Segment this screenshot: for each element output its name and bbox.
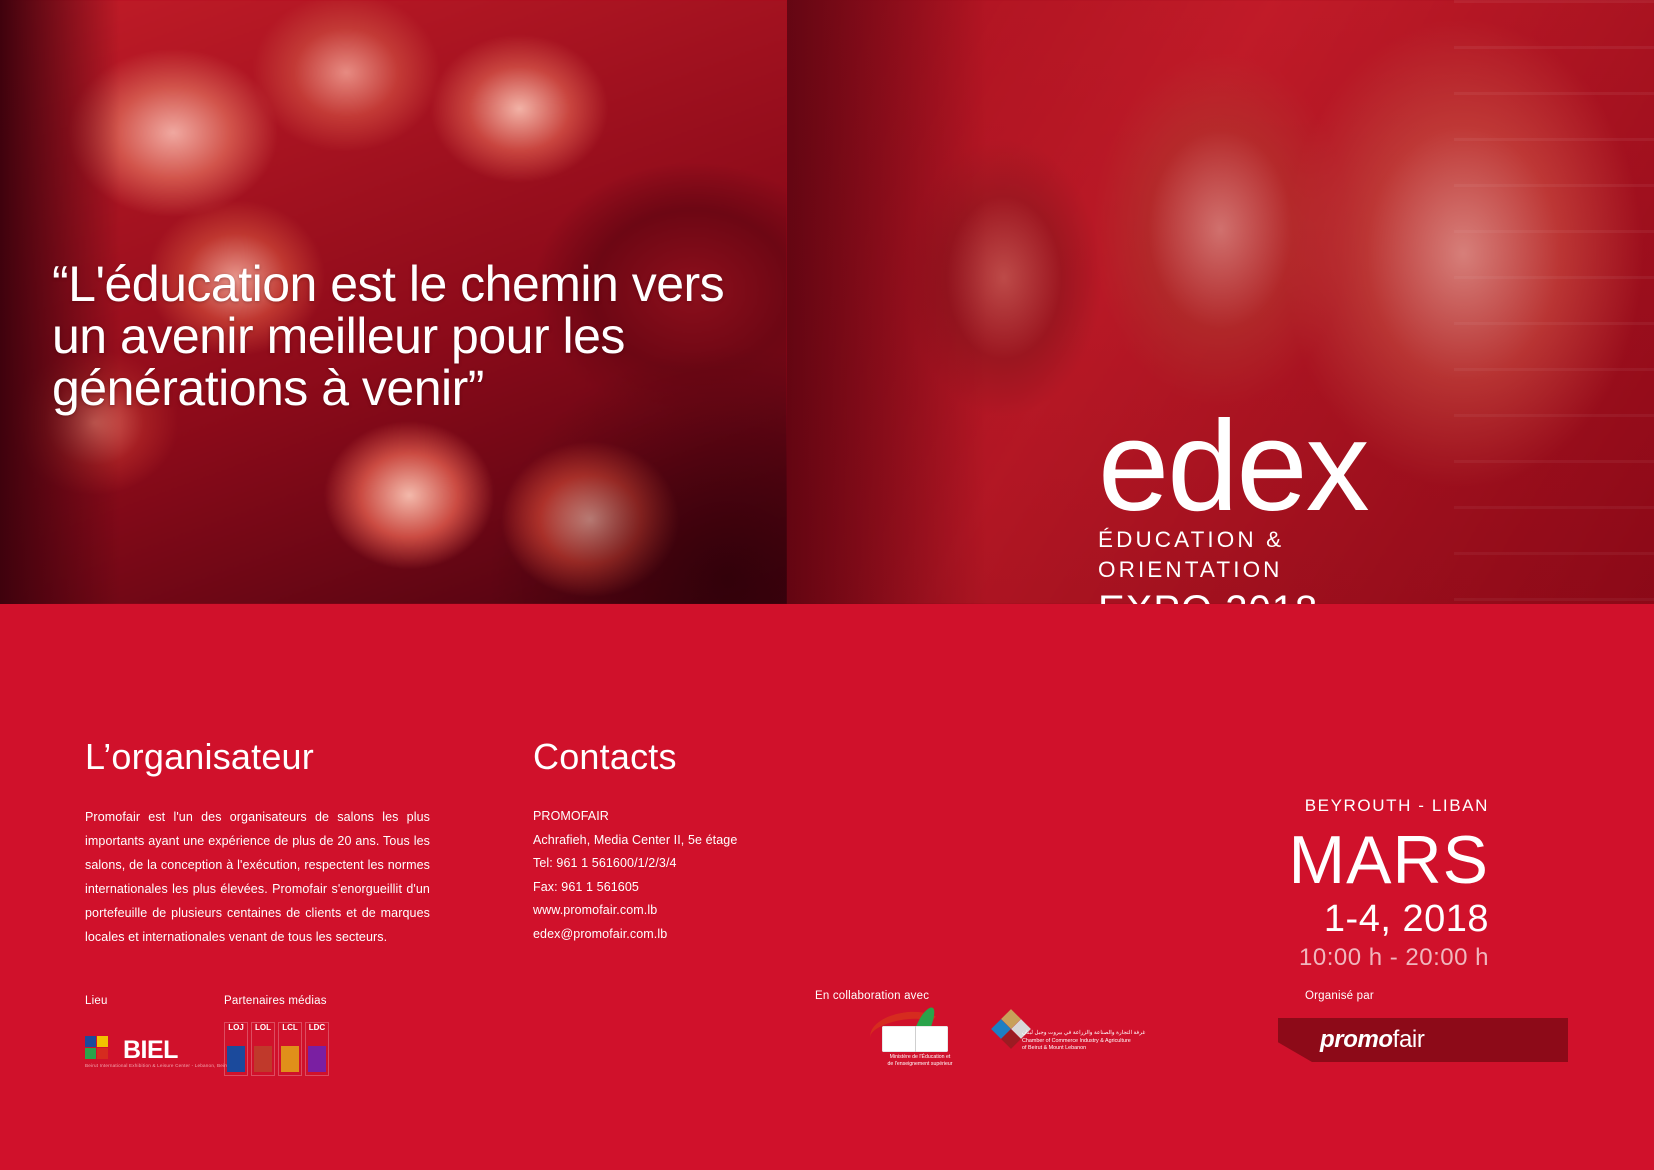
contact-fax: Fax: 961 1 561605	[533, 876, 863, 900]
media-partner-swatch	[227, 1046, 245, 1072]
biel-square-blue	[85, 1036, 96, 1047]
event-hours: 10:00 h - 20:00 h	[1069, 943, 1489, 973]
edex-logo: edex ÉDUCATION & ORIENTATION EXPO 2018	[1098, 415, 1458, 633]
ministry-name: Ministère de l'Éducation et de l'enseign…	[860, 1054, 980, 1068]
contacts-section: Contacts PROMOFAIR Achrafieh, Media Cent…	[533, 735, 863, 946]
ministry-line-2: de l'enseignement supérieur	[887, 1061, 952, 1067]
edex-wordmark: edex	[1098, 415, 1458, 519]
event-date-block: BEYROUTH - LIBAN MARS 1-4, 2018 10:00 h …	[1069, 795, 1489, 973]
organiser-section: L’organisateur Promofair est l'un des or…	[85, 735, 430, 949]
biel-wordmark: BIEL	[123, 1038, 178, 1063]
promofair-prefix: promo	[1320, 1026, 1393, 1053]
ministry-book-icon	[882, 1026, 948, 1052]
contact-company: PROMOFAIR	[533, 805, 863, 829]
media-partner-swatch	[308, 1046, 326, 1072]
media-partner-logos: LOJ LOL LCL LDC	[224, 1022, 329, 1076]
edex-subtitle: ÉDUCATION & ORIENTATION	[1098, 525, 1458, 585]
contact-website[interactable]: www.promofair.com.lb	[533, 899, 863, 923]
biel-tagline: Beirut International Exhibition & Leisur…	[85, 1063, 230, 1068]
chamber-line-2: of Beirut & Mount Lebanon	[1022, 1045, 1086, 1051]
promofair-suffix: fair	[1393, 1026, 1425, 1053]
media-partner-initials: LCL	[279, 1023, 301, 1032]
contact-email[interactable]: edex@promofair.com.lb	[533, 923, 863, 947]
biel-square-yellow	[97, 1036, 108, 1047]
hero-quote: “L'éducation est le chemin vers un aveni…	[52, 258, 772, 414]
media-partner-logo[interactable]: LOL	[251, 1022, 275, 1076]
event-city: BEYROUTH - LIBAN	[1069, 795, 1489, 817]
event-month: MARS	[1069, 823, 1489, 897]
media-partners-label: Partenaires médias	[224, 995, 327, 1007]
media-partner-swatch	[281, 1046, 299, 1072]
organiser-paragraph: Promofair est l'un des organisateurs de …	[85, 805, 430, 949]
ministry-of-education-logo: Ministère de l'Éducation et de l'enseign…	[860, 1010, 980, 1072]
ministry-line-1: Ministère de l'Éducation et	[890, 1054, 951, 1060]
media-partner-logo[interactable]: LDC	[305, 1022, 329, 1076]
media-partner-logo[interactable]: LCL	[278, 1022, 302, 1076]
event-dates: 1-4, 2018	[1069, 897, 1489, 941]
media-partner-swatch	[254, 1046, 272, 1072]
collaboration-label: En collaboration avec	[815, 990, 929, 1002]
media-partner-initials: LOJ	[225, 1023, 247, 1032]
contacts-heading: Contacts	[533, 735, 863, 779]
contact-tel: Tel: 961 1 561600/1/2/3/4	[533, 852, 863, 876]
biel-square-green	[85, 1048, 96, 1059]
biel-square-red	[97, 1048, 108, 1059]
organiser-heading: L’organisateur	[85, 735, 430, 779]
organised-by-label: Organisé par	[1305, 990, 1374, 1002]
contacts-list: PROMOFAIR Achrafieh, Media Center II, 5e…	[533, 805, 863, 946]
media-partner-initials: LOL	[252, 1023, 274, 1032]
chamber-line-1: Chamber of Commerce Industry & Agricultu…	[1022, 1038, 1131, 1044]
chamber-name-arabic: غرفة التجارة والصناعة والزراعة في بيروت …	[1022, 1030, 1190, 1036]
media-partner-initials: LDC	[306, 1023, 328, 1032]
biel-logo: BIEL Beirut International Exhibition & L…	[85, 1032, 185, 1072]
contact-address: Achrafieh, Media Center II, 5e étage	[533, 829, 863, 853]
poster-canvas: “L'éducation est le chemin vers un aveni…	[0, 0, 1654, 1170]
lieu-label: Lieu	[85, 995, 108, 1007]
media-partner-logo[interactable]: LOJ	[224, 1022, 248, 1076]
chamber-of-commerce-logo: غرفة التجارة والصناعة والزراعة في بيروت …	[990, 1012, 1190, 1072]
chamber-name-english: Chamber of Commerce Industry & Agricultu…	[1022, 1038, 1190, 1053]
promofair-wordmark: promofair	[1320, 1026, 1424, 1054]
